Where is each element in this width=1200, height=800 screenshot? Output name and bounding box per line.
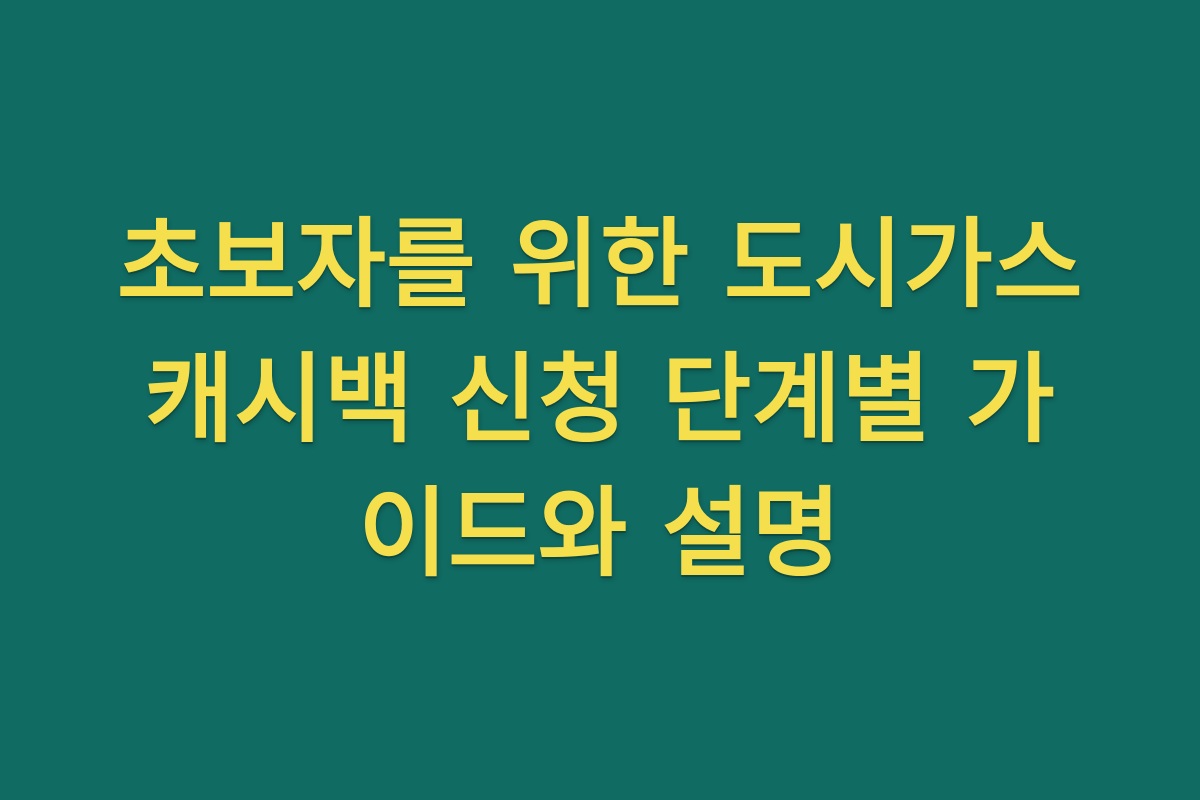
headline-block: 초보자를 위한 도시가스 캐시백 신청 단계별 가 이드와 설명 bbox=[70, 198, 1130, 602]
headline-line-3: 이드와 설명 bbox=[80, 467, 1120, 602]
headline-line-1: 초보자를 위한 도시가스 bbox=[80, 198, 1120, 333]
headline-title: 초보자를 위한 도시가스 캐시백 신청 단계별 가 이드와 설명 bbox=[80, 198, 1120, 602]
thumbnail-card: 초보자를 위한 도시가스 캐시백 신청 단계별 가 이드와 설명 bbox=[0, 0, 1200, 800]
headline-line-2: 캐시백 신청 단계별 가 bbox=[80, 333, 1120, 468]
